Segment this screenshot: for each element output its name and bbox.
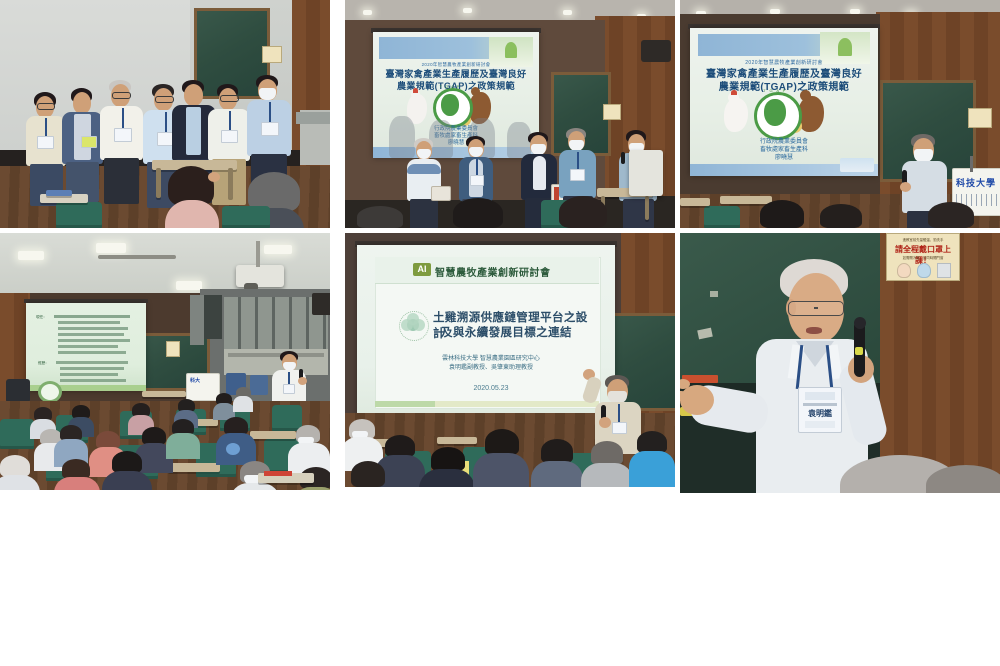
slide2-kicker: 2020年智慧農牧產業創新研討會: [381, 62, 531, 68]
ceiling-projector: [236, 265, 284, 287]
slide5-title-line-2: 及與永續發展目標之連結: [441, 324, 593, 340]
slide3-org-line-2: 畜牧處家畜生產科: [720, 146, 848, 154]
right-whitespace: [335, 487, 680, 497]
projection-screen-panel2: 2020年智慧農牧產業創新研討會 臺灣家禽產業生產履歷及臺灣良好 農業規範(TG…: [373, 32, 539, 158]
slide4-heading-2: 經歷：: [38, 361, 49, 366]
panel-lecture-hall-wide: 現任： 經歷： 科大: [0, 233, 335, 490]
projection-screen-panel5: AI 智慧農牧產業創新研討會 土雞溯源供應鏈管理平台之設計 及與永續發展目標之連…: [357, 245, 615, 417]
slide4-heading-1: 現任：: [36, 315, 47, 320]
bottom-whitespace: [0, 493, 1000, 666]
panel3-podium-text: 科技大學: [956, 176, 998, 189]
name-badge-text: 袁明鑑: [801, 408, 839, 419]
slide3-tgap-logo-text: T G A P: [756, 88, 794, 96]
projection-screen-panel3: 2020年智慧農牧產業創新研討會 臺灣家禽產業生產履歷及臺灣良好 農業規範(TG…: [690, 28, 878, 176]
slide5-affiliation-line-2: 袁明鑑副教授、吳肇東助理教授: [405, 362, 577, 371]
left-whitespace: [0, 490, 335, 500]
slide2-tgap-logo-text: T G A P: [435, 85, 465, 92]
poster-line-2: 如需開冷氣，請同時開門窗: [889, 255, 957, 260]
projection-screen-panel4: 現任： 經歷：: [26, 303, 146, 391]
slide3-title-line-1: 臺灣家禽產業生產履歷及臺灣良好: [694, 69, 874, 82]
slide5-date: 2020.05.23: [405, 385, 577, 392]
gutter-vertical-1: [330, 0, 345, 500]
slide5-header-logo: AI: [413, 263, 431, 276]
slide3-kicker: 2020年智慧農牧產業創新研討會: [700, 60, 868, 66]
slide3-org-line-1: 行政院農業委員會: [720, 138, 848, 146]
slide3-org-line-3: 廖曉慧: [720, 154, 848, 162]
mask-notice-poster: 進教室前先量體溫、勤洗手 請全程戴口罩上課！ 如需開冷氣，請同時開門窗: [886, 233, 960, 281]
panel-group-photo-on-stage: Seven men in shirts with lanyard name ba…: [0, 0, 330, 228]
panel-speaker-portrait: 進教室前先量體溫、勤洗手 請全程戴口罩上課！ 如需開冷氣，請同時開門窗: [680, 233, 1000, 493]
poster-line-1: 進教室前先量體溫、勤洗手: [889, 237, 957, 242]
panel-presentation-title-slide: AI 智慧農牧產業創新研討會 土雞溯源供應鏈管理平台之設計 及與永續發展目標之連…: [345, 233, 675, 487]
panel-speaker-at-title-slide: 2020年智慧農牧產業創新研討會 臺灣家禽產業生產履歷及臺灣良好 農業規範(TG…: [680, 0, 1000, 228]
photo-collage: Seven men in shirts with lanyard name ba…: [0, 0, 1000, 666]
name-badge: 袁明鑑: [798, 387, 842, 433]
slide2-title-line-1: 臺灣家禽產業生產履歷及臺灣良好: [377, 69, 535, 80]
gutter-horizontal: [0, 228, 1000, 233]
gutter-vertical-2: [675, 0, 680, 500]
slide5-header: 智慧農牧產業創新研討會: [435, 264, 575, 279]
slide5-affiliation-line-1: 雲林科技大學 智慧農業園區研究中心: [405, 353, 577, 362]
panel-award-presentation: 2020年智慧農牧產業創新研討會 臺灣家禽產業生產履歷及臺灣良好 農業規範(TG…: [345, 0, 675, 228]
